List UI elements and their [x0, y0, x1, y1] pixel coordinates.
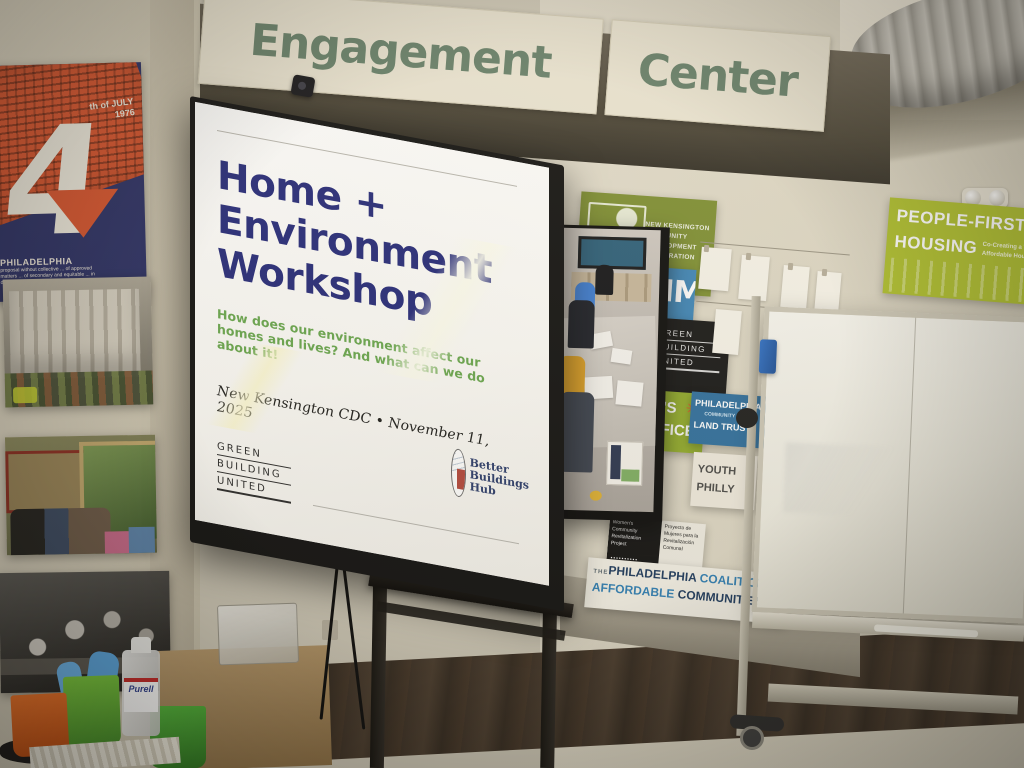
hand-sanitizer-bottle: Purell — [122, 650, 160, 736]
green-building-united-logo: GREEN BUILDING UNITED — [217, 438, 291, 504]
garden-bulletin-board — [5, 450, 90, 513]
sign-people-first-housing: PEOPLE-FIRST HOUSING Co-Creating a Vibra… — [882, 197, 1024, 306]
coalition-the: THE — [593, 569, 608, 576]
storage-bin — [217, 603, 299, 666]
hanging-paper — [738, 255, 770, 301]
hanging-paper — [780, 265, 810, 309]
garden-person-blue — [129, 527, 155, 553]
hanging-paper — [814, 271, 841, 311]
venue-sign-panel-center: Center — [604, 19, 831, 132]
presentation-screen: Home + Environment Workshop How does our… — [195, 102, 549, 586]
paper-clip — [704, 245, 710, 252]
photo-paper — [615, 380, 643, 406]
hanging-paper — [698, 247, 732, 291]
paper-clip — [746, 253, 752, 260]
whiteboard-ghost-marks — [783, 442, 906, 517]
venue-sign-text-center: Center — [636, 44, 799, 107]
poster-triangle — [46, 189, 119, 239]
webcam — [290, 74, 315, 98]
photo-paper — [611, 348, 633, 365]
photo-floor-marker — [590, 490, 602, 500]
room-scene: Engagement Center 4 th of JULY 1976 PHIL… — [0, 0, 1024, 768]
hanging-paper — [712, 309, 742, 355]
photo-display-card — [606, 441, 643, 486]
whiteboard[interactable] — [752, 306, 1024, 623]
city-hall-building — [9, 289, 141, 380]
photo-participant — [595, 265, 614, 295]
bbh-bar-red — [457, 469, 466, 491]
photo-community-garden — [5, 435, 157, 556]
sanitizer-brand: Purell — [124, 682, 158, 696]
presentation-slide: Home + Environment Workshop How does our… — [195, 102, 549, 586]
paper-clip — [822, 269, 828, 276]
garden-person-pink — [105, 531, 131, 553]
slide-bottom-rule — [313, 505, 519, 544]
paper-clip — [788, 263, 794, 270]
garden-people — [10, 507, 111, 555]
whiteboard-tilt-knob[interactable] — [736, 408, 758, 428]
presentation-display[interactable]: Home + Environment Workshop How does our… — [190, 96, 564, 612]
bbh-logo-text: Better Buildings Hub — [470, 457, 529, 504]
people-first-line1: PEOPLE-FIRST — [896, 206, 1024, 236]
sanitizer-label: Purell — [124, 678, 158, 712]
photo-city-hall — [3, 276, 154, 407]
whiteboard-eraser[interactable] — [759, 339, 777, 374]
bbh-logo-mark — [451, 448, 466, 499]
cup-green — [63, 675, 121, 747]
secondary-display-screen — [555, 228, 660, 512]
sanitizer-pump-cap — [131, 637, 151, 653]
people-first-line2: HOUSING — [894, 232, 978, 258]
land-trust-line2: COMMUNITY — [704, 411, 735, 419]
whiteboard-caster-wheel — [740, 726, 764, 750]
secondary-display[interactable] — [552, 225, 670, 522]
photo-participant — [568, 300, 595, 349]
people-first-tagline: Co-Creating a Vibrant and Affordable Hou… — [981, 241, 1024, 265]
youth-text: YOUTH PHILLY — [696, 460, 737, 499]
photo-wall-tv — [578, 236, 647, 270]
poster-1976-bicentennial: 4 th of JULY 1976 PHILADELPHIA proposal … — [0, 62, 147, 302]
city-hall-highlight — [13, 387, 37, 403]
